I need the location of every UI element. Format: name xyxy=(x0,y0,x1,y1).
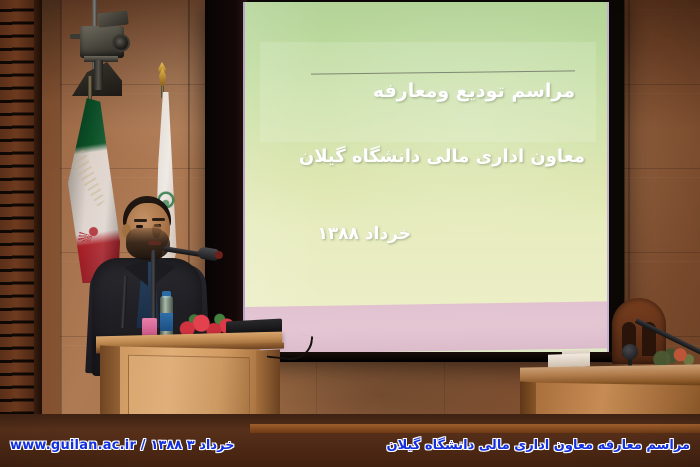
slide-heading-line-1: مراسم تودیع ومعارفه xyxy=(373,80,575,102)
microphone-windscreen xyxy=(215,251,223,259)
acoustic-panel-shadow xyxy=(34,0,42,430)
speaker-eyebrow-right xyxy=(152,218,165,221)
projection-screen-left-shadow xyxy=(205,0,247,352)
projection-screen: مراسم تودیع ومعارفه معاون اداری مالی دان… xyxy=(243,2,609,354)
microphone-stem xyxy=(151,250,156,322)
iran-flag-emblem-icon xyxy=(78,211,110,245)
photograph: مراسم تودیع ومعارفه معاون اداری مالی دان… xyxy=(0,0,700,467)
camera-mount-post xyxy=(94,60,103,90)
caption-event-title: مراسم معارفه معاون اداری مالی دانشگاه گی… xyxy=(387,438,690,453)
table-microphone-base xyxy=(622,344,638,360)
speaker-mouth xyxy=(148,241,161,245)
caption-website-and-date: www.guilan.ac.ir / ۱۳۸۸ خرداد ۳ xyxy=(10,438,234,453)
camera-lens-icon xyxy=(112,34,130,52)
baseboard-trim xyxy=(250,424,700,433)
wall-seam-vertical xyxy=(60,0,62,430)
water-bottle-label xyxy=(160,313,173,331)
acoustic-slat-panel xyxy=(0,0,36,428)
slide-date-line: خرداد ۱۳۸۸ xyxy=(317,224,411,244)
slide-heading-line-2: معاون اداری مالی دانشگاه گیلان xyxy=(299,146,585,167)
speaker-eyebrow-left xyxy=(134,219,147,222)
